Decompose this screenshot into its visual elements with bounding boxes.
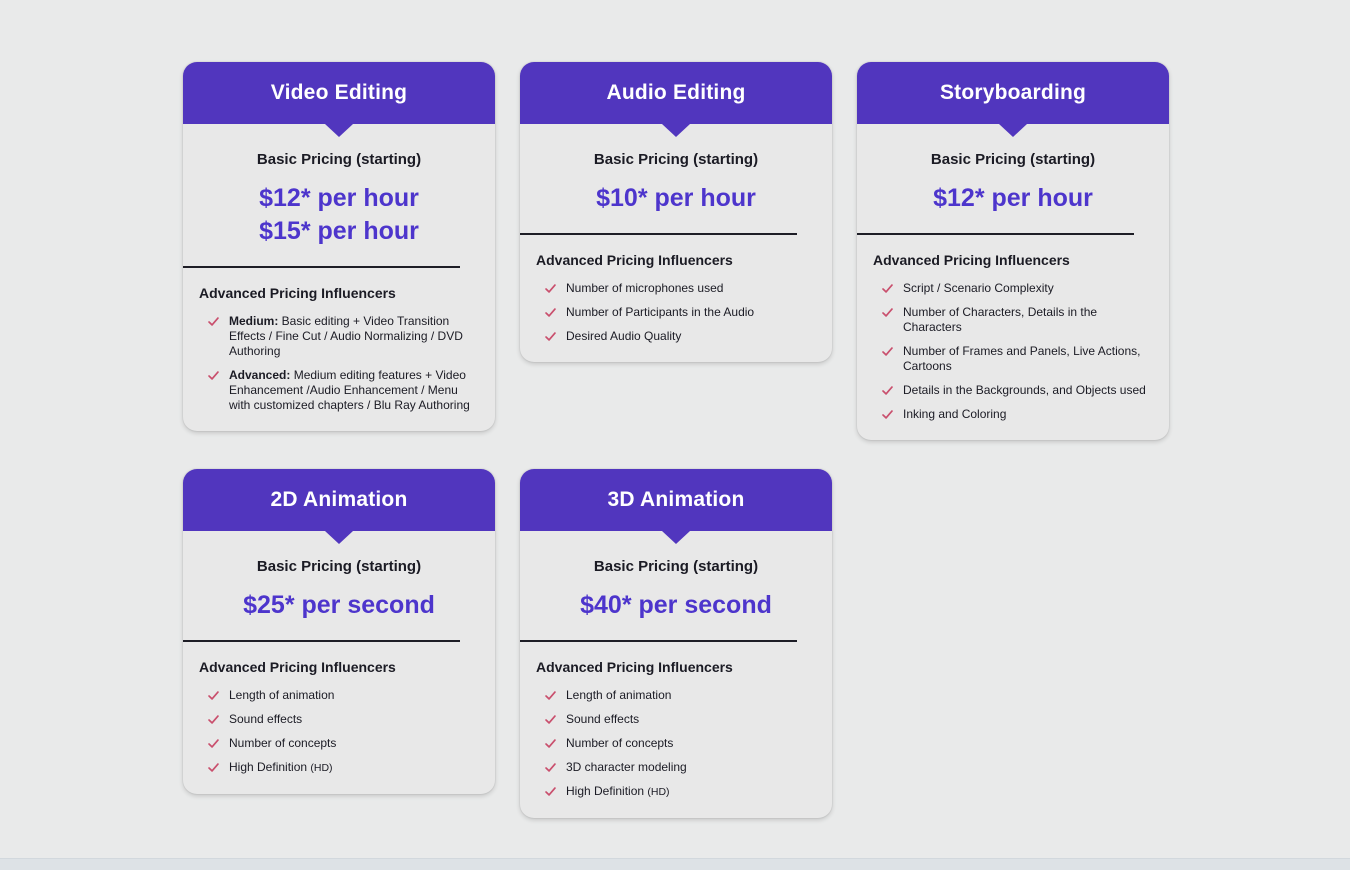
card-body: Basic Pricing (starting)$12* per hour$15…	[183, 151, 495, 413]
list-item: Number of microphones used	[544, 281, 816, 296]
check-icon	[881, 306, 894, 319]
list-item: Number of concepts	[544, 736, 816, 751]
check-icon	[881, 282, 894, 295]
card-header-2d-animation: 2D Animation	[183, 469, 495, 531]
list-item: Number of Frames and Panels, Live Action…	[881, 344, 1153, 374]
check-icon	[544, 785, 557, 798]
influencer-list: Length of animationSound effectsNumber o…	[520, 688, 832, 800]
page-bottom-strip	[0, 858, 1350, 870]
check-icon	[207, 689, 220, 702]
list-item-label: Script / Scenario Complexity	[903, 281, 1054, 295]
list-item-label: High Definition (HD)	[229, 760, 333, 774]
price-value: $40* per second	[520, 589, 832, 622]
influencer-list: Medium: Basic editing + Video Transition…	[183, 314, 495, 413]
basic-pricing-label: Basic Pricing (starting)	[520, 558, 832, 575]
check-icon	[207, 315, 220, 328]
advanced-pricing-influencers-heading: Advanced Pricing Influencers	[536, 659, 832, 675]
list-item: Medium: Basic editing + Video Transition…	[207, 314, 479, 359]
list-item-label: Number of microphones used	[566, 281, 723, 295]
check-icon	[544, 330, 557, 343]
pricing-card-grid: Video EditingBasic Pricing (starting)$12…	[183, 62, 1173, 818]
list-item: Desired Audio Quality	[544, 329, 816, 344]
check-icon	[881, 408, 894, 421]
check-icon	[544, 713, 557, 726]
pricing-card-video-editing[interactable]: Video EditingBasic Pricing (starting)$12…	[183, 62, 495, 431]
section-divider	[183, 640, 460, 642]
list-item-label: Inking and Coloring	[903, 407, 1006, 421]
price-value: $10* per hour	[520, 182, 832, 215]
check-icon	[544, 737, 557, 750]
list-item: Number of Characters, Details in the Cha…	[881, 305, 1153, 335]
card-title: Video Editing	[271, 81, 407, 105]
influencer-list: Script / Scenario ComplexityNumber of Ch…	[857, 281, 1169, 422]
price-value: $25* per second	[183, 589, 495, 622]
list-item-label: Number of concepts	[566, 736, 673, 750]
card-title: 2D Animation	[271, 488, 408, 512]
list-item: Sound effects	[207, 712, 479, 727]
list-item: Length of animation	[207, 688, 479, 703]
card-header-audio-editing: Audio Editing	[520, 62, 832, 124]
list-item-label: Length of animation	[229, 688, 334, 702]
list-item: Number of Participants in the Audio	[544, 305, 816, 320]
card-body: Basic Pricing (starting)$10* per hourAdv…	[520, 151, 832, 344]
check-icon	[881, 345, 894, 358]
list-item-lead: Advanced:	[229, 368, 290, 382]
check-icon	[207, 737, 220, 750]
list-item-label: Details in the Backgrounds, and Objects …	[903, 383, 1146, 397]
check-icon	[207, 369, 220, 382]
header-notch-triangle-icon	[325, 531, 353, 544]
section-divider	[183, 266, 460, 268]
influencer-list: Length of animationSound effectsNumber o…	[183, 688, 495, 776]
price-value: $12* per hour	[183, 182, 495, 215]
section-divider	[520, 233, 797, 235]
pricing-card-2d-animation[interactable]: 2D AnimationBasic Pricing (starting)$25*…	[183, 469, 495, 794]
list-item-label: 3D character modeling	[566, 760, 687, 774]
header-notch-triangle-icon	[325, 124, 353, 137]
list-item-label: Number of Participants in the Audio	[566, 305, 754, 319]
card-body: Basic Pricing (starting)$25* per secondA…	[183, 558, 495, 776]
card-header-3d-animation: 3D Animation	[520, 469, 832, 531]
list-item: 3D character modeling	[544, 760, 816, 775]
list-item-label: Sound effects	[229, 712, 302, 726]
check-icon	[544, 761, 557, 774]
card-body: Basic Pricing (starting)$12* per hourAdv…	[857, 151, 1169, 422]
list-item: High Definition (HD)	[544, 784, 816, 800]
card-header-video-editing: Video Editing	[183, 62, 495, 124]
header-notch-triangle-icon	[999, 124, 1027, 137]
pricing-card-storyboarding[interactable]: StoryboardingBasic Pricing (starting)$12…	[857, 62, 1169, 440]
price-value: $15* per hour	[183, 215, 495, 248]
list-item: Details in the Backgrounds, and Objects …	[881, 383, 1153, 398]
pricing-card-audio-editing[interactable]: Audio EditingBasic Pricing (starting)$10…	[520, 62, 832, 362]
check-icon	[207, 713, 220, 726]
list-item-label: Desired Audio Quality	[566, 329, 681, 343]
advanced-pricing-influencers-heading: Advanced Pricing Influencers	[199, 285, 495, 301]
list-item-label: Number of concepts	[229, 736, 336, 750]
advanced-pricing-influencers-heading: Advanced Pricing Influencers	[199, 659, 495, 675]
card-body: Basic Pricing (starting)$40* per secondA…	[520, 558, 832, 800]
list-item-label: High Definition (HD)	[566, 784, 670, 798]
card-header-storyboarding: Storyboarding	[857, 62, 1169, 124]
section-divider	[520, 640, 797, 642]
basic-pricing-label: Basic Pricing (starting)	[183, 151, 495, 168]
list-item: Number of concepts	[207, 736, 479, 751]
header-notch-triangle-icon	[662, 124, 690, 137]
card-title: 3D Animation	[608, 488, 745, 512]
list-item: Advanced: Medium editing features + Vide…	[207, 368, 479, 413]
basic-pricing-label: Basic Pricing (starting)	[857, 151, 1169, 168]
price-list: $12* per hour$15* per hour	[183, 182, 495, 248]
check-icon	[881, 384, 894, 397]
section-divider	[857, 233, 1134, 235]
card-title: Storyboarding	[940, 81, 1086, 105]
price-list: $25* per second	[183, 589, 495, 622]
check-icon	[544, 282, 557, 295]
card-title: Audio Editing	[606, 81, 745, 105]
list-item-lead: Medium:	[229, 314, 278, 328]
list-item: Script / Scenario Complexity	[881, 281, 1153, 296]
list-item-label: Number of Characters, Details in the Cha…	[903, 305, 1097, 334]
price-value: $12* per hour	[857, 182, 1169, 215]
list-item-label: Sound effects	[566, 712, 639, 726]
list-item: High Definition (HD)	[207, 760, 479, 776]
list-item: Sound effects	[544, 712, 816, 727]
pricing-page: Video EditingBasic Pricing (starting)$12…	[0, 0, 1350, 870]
basic-pricing-label: Basic Pricing (starting)	[520, 151, 832, 168]
list-item: Length of animation	[544, 688, 816, 703]
list-item-label: Length of animation	[566, 688, 671, 702]
price-list: $10* per hour	[520, 182, 832, 215]
advanced-pricing-influencers-heading: Advanced Pricing Influencers	[873, 252, 1169, 268]
price-list: $40* per second	[520, 589, 832, 622]
check-icon	[544, 306, 557, 319]
list-item-label: Number of Frames and Panels, Live Action…	[903, 344, 1140, 373]
basic-pricing-label: Basic Pricing (starting)	[183, 558, 495, 575]
influencer-list: Number of microphones usedNumber of Part…	[520, 281, 832, 344]
price-list: $12* per hour	[857, 182, 1169, 215]
list-item: Inking and Coloring	[881, 407, 1153, 422]
check-icon	[207, 761, 220, 774]
advanced-pricing-influencers-heading: Advanced Pricing Influencers	[536, 252, 832, 268]
header-notch-triangle-icon	[662, 531, 690, 544]
pricing-card-3d-animation[interactable]: 3D AnimationBasic Pricing (starting)$40*…	[520, 469, 832, 818]
check-icon	[544, 689, 557, 702]
